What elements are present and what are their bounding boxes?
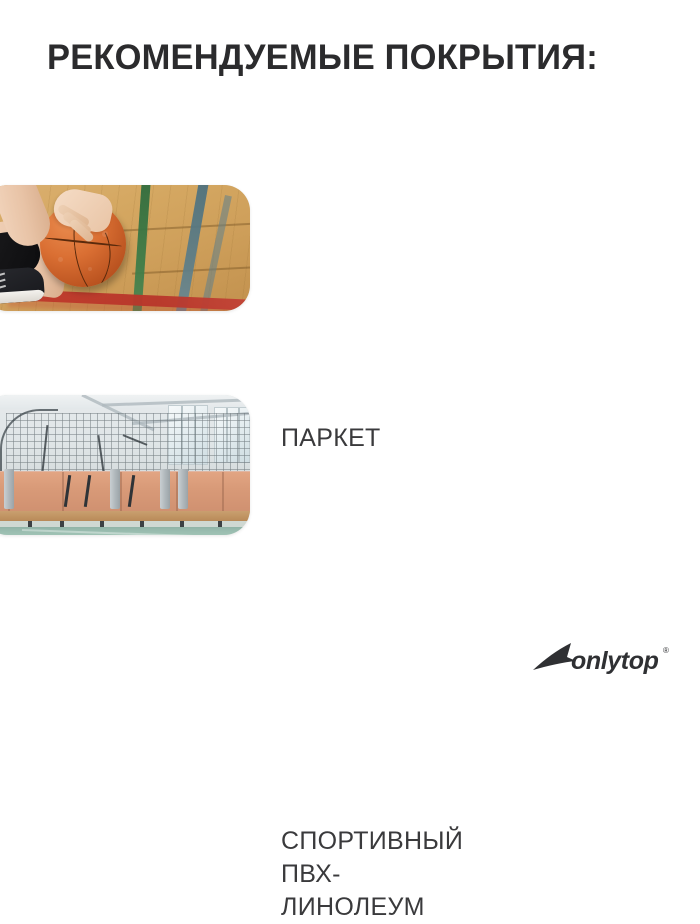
pvc-linoleum-photo: [0, 395, 250, 535]
wall-padding: [0, 471, 250, 514]
pvc-photo-card: [0, 395, 250, 535]
brand-logo: onlytop ®: [531, 640, 681, 680]
logo-wordmark: onlytop: [571, 647, 659, 675]
net-post: [178, 469, 188, 509]
pad-seam: [222, 472, 224, 514]
player-sneaker: [0, 266, 45, 305]
net-post: [110, 469, 120, 509]
ball-texture: [58, 257, 63, 262]
net-post: [4, 469, 14, 509]
pad-seam: [120, 472, 122, 514]
caption-parquet: ПАРКЕТ: [281, 422, 381, 455]
pad-seam: [62, 472, 64, 514]
hall-bench: [0, 511, 250, 521]
floor-reflection: [0, 527, 250, 535]
slide-canvas: РЕКОМЕНДУЕМЫЕ ПОКРЫТИЯ:: [0, 0, 700, 700]
parquet-photo: [0, 185, 250, 311]
arrow-swoosh-icon: [533, 643, 576, 670]
page-title: РЕКОМЕНДУЕМЫЕ ПОКРЫТИЯ:: [47, 38, 598, 78]
net-post: [160, 469, 170, 509]
parquet-photo-card: [0, 185, 250, 311]
ball-texture: [102, 231, 108, 237]
ball-texture: [88, 267, 92, 271]
logo-trademark: ®: [663, 646, 669, 655]
caption-pvc: СПОРТИВНЫЙ ПВХ-ЛИНОЛЕУМ: [281, 825, 463, 924]
